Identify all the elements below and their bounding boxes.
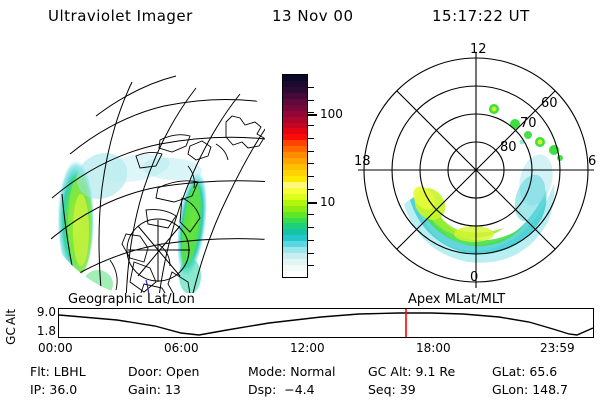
- apex-polar-panel[interactable]: 12 18 6 0 60 70 80: [352, 46, 600, 294]
- timeline-y-ticks: 9.0 1.8: [22, 306, 56, 342]
- colorbar-ticks: 100 10: [308, 74, 352, 278]
- status-footer: Flt: LBHL Door: Open Mode: Normal GC Alt…: [0, 362, 600, 400]
- colorbar-label-100: 100: [320, 108, 343, 120]
- timeline-ytick-min: 1.8: [37, 325, 56, 337]
- altitude-trace: [59, 309, 593, 337]
- header-bar: Ultraviolet Imager 13 Nov 00 15:17:22 UT: [0, 4, 600, 30]
- timeline-ytick-max: 9.0: [37, 306, 56, 318]
- colorbar-tick-minor: [308, 202, 314, 203]
- mlat-label-80: 80: [500, 140, 517, 155]
- colorbar-tick-major: [308, 114, 317, 116]
- timeline-xtick-4: 23:59: [540, 341, 575, 355]
- colorbar-tick-minor: [308, 112, 314, 113]
- colorbar-tick-minor: [308, 214, 314, 215]
- colorbar-tick-minor: [308, 125, 314, 126]
- colorbar-tick-minor: [308, 265, 314, 266]
- status-glat: GLat: 65.6: [492, 364, 557, 379]
- apex-polar-plot: [352, 46, 600, 294]
- intensity-colorbar: photon cm⁻²s⁻¹ 100 10: [262, 60, 352, 290]
- timeline-xtick-3: 18:00: [416, 341, 451, 355]
- mlt-label-18: 18: [354, 154, 371, 169]
- timeline-xtick-0: 00:00: [38, 341, 73, 355]
- colorbar-tick-minor: [308, 227, 314, 228]
- colorbar-tick-minor: [308, 240, 314, 241]
- status-mode: Mode: Normal: [248, 364, 336, 379]
- status-glon: GLon: 148.7: [492, 382, 568, 397]
- mlat-label-70: 70: [520, 116, 537, 131]
- status-ip: IP: 36.0: [30, 382, 77, 397]
- status-flt: Flt: LBHL: [30, 364, 86, 379]
- geographic-plot: [40, 48, 265, 293]
- mlat-label-60: 60: [541, 96, 558, 111]
- status-seq: Seq: 39: [368, 382, 416, 397]
- observation-date: 13 Nov 00: [272, 7, 354, 25]
- orbit-altitude-timeline[interactable]: [58, 308, 594, 338]
- observation-time: 15:17:22 UT: [432, 7, 530, 25]
- geographic-image-panel[interactable]: [40, 48, 265, 293]
- timeline-xtick-1: 06:00: [164, 341, 199, 355]
- status-door: Door: Open: [128, 364, 199, 379]
- colorbar-tick-minor: [308, 87, 314, 88]
- colorbar-gradient: [282, 74, 308, 278]
- apex-panel-caption: Apex MLat/MLT: [408, 292, 505, 307]
- colorbar-tick-minor: [308, 100, 314, 101]
- colorbar-band-33: [283, 271, 307, 277]
- status-gain: Gain: 13: [128, 382, 181, 397]
- status-gc-alt: GC Alt: 9.1 Re: [368, 364, 455, 379]
- timeline-y-axis-label: Alt GC: [2, 302, 20, 344]
- colorbar-tick-minor: [308, 189, 314, 190]
- mlt-label-6: 6: [588, 154, 596, 169]
- timeline-x-ticks: 00:00 06:00 12:00 18:00 23:59: [0, 341, 600, 359]
- instrument-title: Ultraviolet Imager: [48, 7, 193, 25]
- mlt-label-0: 0: [470, 270, 478, 285]
- colorbar-tick-minor: [308, 138, 314, 139]
- colorbar-tick-minor: [308, 151, 314, 152]
- colorbar-tick-minor: [308, 253, 314, 254]
- timeline-xtick-2: 12:00: [290, 341, 325, 355]
- colorbar-tick-minor: [308, 163, 314, 164]
- status-dsp: Dsp: −4.4: [248, 382, 315, 397]
- colorbar-label-10: 10: [320, 196, 335, 208]
- geographic-panel-caption: Geographic Lat/Lon: [68, 292, 195, 307]
- mlt-label-12: 12: [470, 42, 487, 57]
- colorbar-tick-minor: [308, 176, 314, 177]
